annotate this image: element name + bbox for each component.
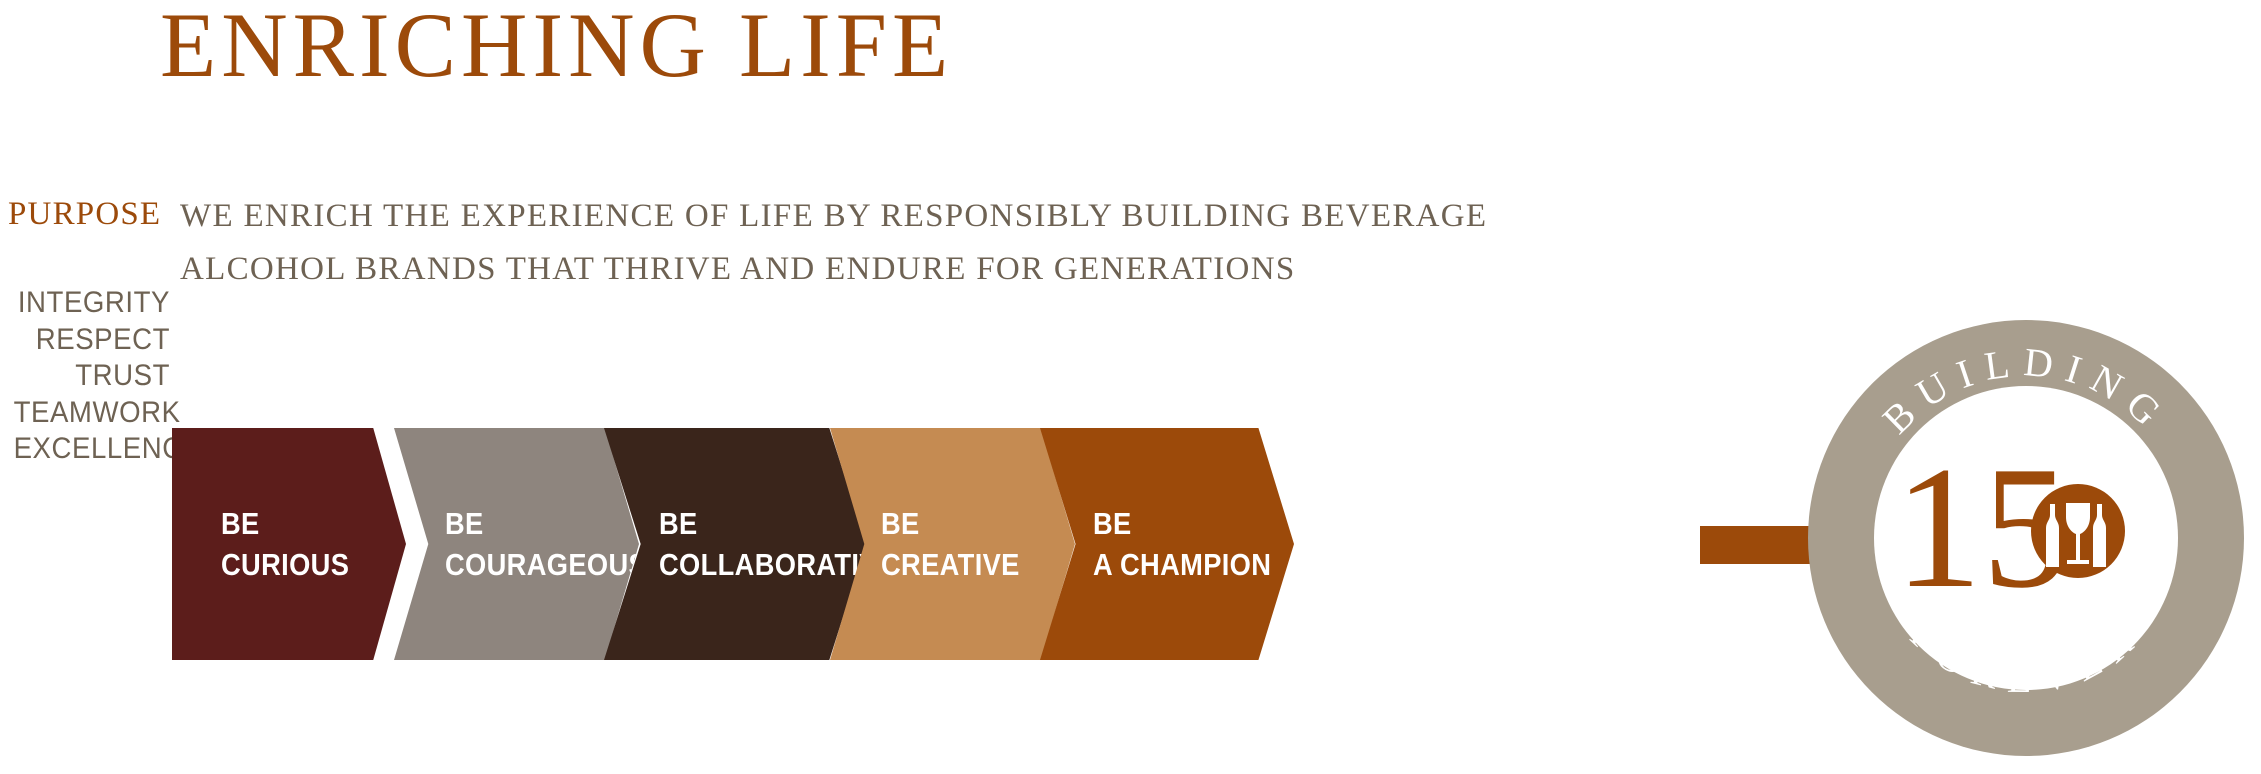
purpose-statement: WE ENRICH THE EXPERIENCE OF LIFE BY RESP… [180, 190, 1487, 296]
behavior-chevron-a-champion-label: BE A CHAMPION [1093, 503, 1296, 585]
behavior-chevron-creative-label: BE CREATIVE [881, 503, 1039, 585]
behavior-chevron-curious[interactable]: BE CURIOUS [172, 428, 406, 660]
value-item-excellence: EXCELLENCE [14, 431, 170, 468]
purpose-label: PURPOSE [8, 196, 161, 233]
value-item-respect: RESPECT [14, 322, 170, 359]
behavior-chevron-curious-label: BE CURIOUS [221, 503, 367, 585]
bottle-glass-bottle-icon [2031, 484, 2125, 578]
value-item-trust: TRUST [14, 358, 170, 395]
behavior-prefix: BE [1093, 503, 1271, 544]
behavior-chevron-courageous[interactable]: BE COURAGEOUS [394, 428, 639, 660]
behavior-word: CURIOUS [221, 544, 349, 585]
behavior-prefix: BE [445, 503, 647, 544]
behavior-word: A CHAMPION [1093, 544, 1271, 585]
behavior-word: CREATIVE [881, 544, 1020, 585]
behavior-chevron-creative[interactable]: BE CREATIVE [830, 428, 1075, 660]
core-values-list: INTEGRITY RESPECT TRUST TEAMWORK EXCELLE… [0, 285, 170, 468]
purpose-statement-line-1: WE ENRICH THE EXPERIENCE OF LIFE BY RESP… [180, 190, 1487, 243]
behavior-prefix: BE [881, 503, 1020, 544]
page-title: ENRICHING LIFE [160, 0, 953, 98]
behavior-chevron-a-champion[interactable]: BE A CHAMPION [1040, 428, 1294, 660]
behavior-chevron-collaborative[interactable]: BE COLLABORATIVE [604, 428, 866, 660]
building-forever-badge[interactable]: BUILDING FOREVER 15 [1806, 318, 2246, 758]
behavior-word: COURAGEOUS [445, 544, 647, 585]
value-item-teamwork: TEAMWORK [14, 395, 170, 432]
enriching-life-poster: ENRICHING LIFE PURPOSE WE ENRICH THE EXP… [0, 0, 2261, 774]
behavior-prefix: BE [221, 503, 349, 544]
purpose-statement-line-2: ALCOHOL BRANDS THAT THRIVE AND ENDURE FO… [180, 243, 1487, 296]
value-item-integrity: INTEGRITY [14, 285, 170, 322]
